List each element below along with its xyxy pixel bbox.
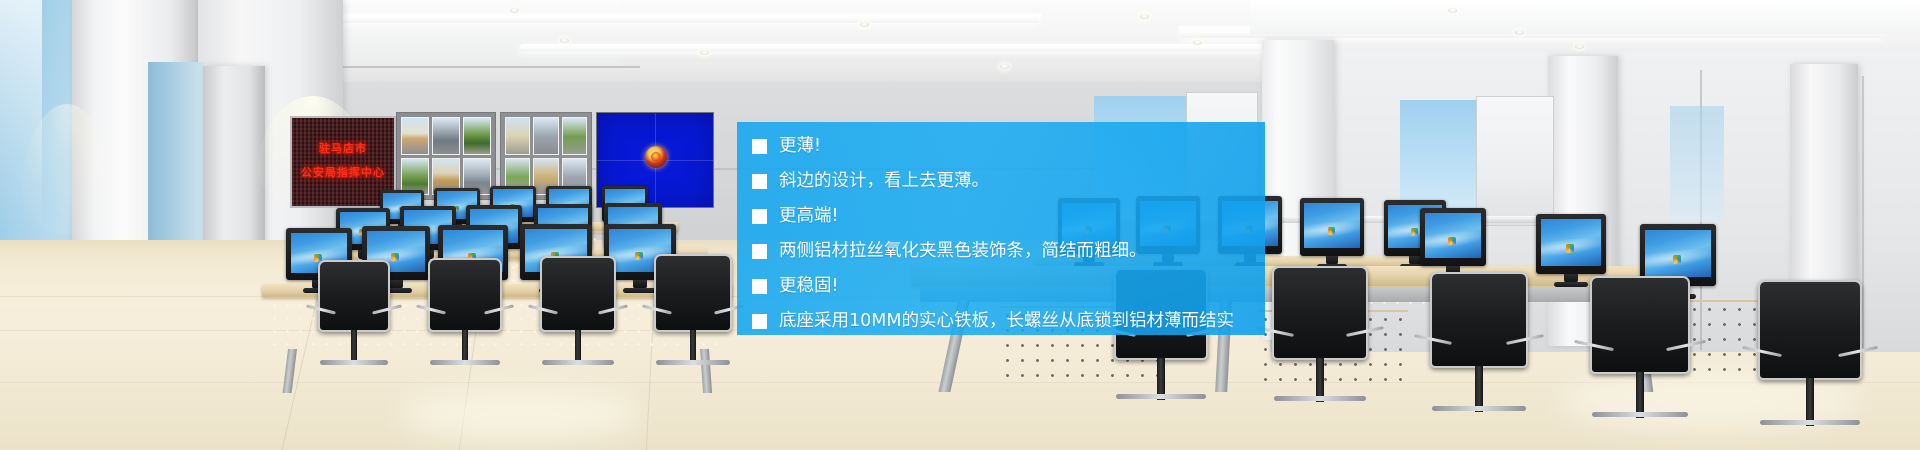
office-chair (1758, 280, 1862, 380)
feature-text: 斜边的设计，看上去更薄。 (779, 170, 989, 192)
chair-post (351, 330, 357, 364)
square-bullet-icon (752, 139, 767, 154)
feature-overlay-panel: 更薄! 斜边的设计，看上去更薄。 更高端! 两侧铝材拉丝氧化夹黑色装饰条，简结而… (737, 122, 1265, 335)
downlight-icon (560, 38, 569, 43)
cctv-feed-building (533, 117, 558, 155)
monitor (1536, 214, 1606, 274)
square-bullet-icon (752, 244, 767, 259)
downlight-icon (1193, 40, 1202, 45)
downlight-icon (1515, 30, 1524, 35)
office-chair (1430, 272, 1528, 368)
feature-row: 斜边的设计，看上去更薄。 (752, 170, 1265, 205)
feature-row: 更稳固! (752, 275, 1265, 310)
police-emblem-icon (645, 146, 667, 168)
feature-row: 两侧铝材拉丝氧化夹黑色装饰条，简结而粗细。 (752, 240, 1265, 275)
chair-base (320, 360, 388, 365)
wall-partition-seam (1862, 76, 1864, 348)
office-chair (540, 256, 616, 332)
office-chair (428, 258, 502, 332)
cctv-video-wall (396, 112, 496, 200)
chair-post (575, 330, 581, 364)
cctv-feed-plaza (505, 117, 530, 155)
square-bullet-icon (752, 279, 767, 294)
feature-text: 更高端! (779, 205, 839, 227)
led-sign-line-2: 公安局指挥中心 (292, 164, 394, 180)
chair-base (656, 360, 730, 365)
chair-base (542, 360, 614, 365)
feature-row: 更薄! (752, 135, 1265, 170)
office-chair (1590, 276, 1690, 374)
feature-text: 底座采用10MM的实心铁板，长螺丝从底锁到铝材薄而结实 (779, 310, 1234, 332)
office-chair (318, 260, 390, 332)
monitor (1300, 198, 1364, 256)
chair-base (1592, 412, 1688, 417)
chair-base (1274, 396, 1366, 401)
feature-text: 更薄! (779, 135, 821, 157)
chair-post (462, 330, 468, 364)
feature-text: 更稳固! (779, 275, 839, 297)
banner-image: 驻马店市 公安局指挥中心 (0, 0, 1920, 450)
feature-row: 更高端! (752, 205, 1265, 240)
window-glass (1670, 106, 1724, 222)
downlight-icon (860, 22, 869, 27)
window-blind (1476, 96, 1554, 226)
ceiling-light-strip-2 (519, 44, 1282, 51)
cctv-feed-plaza (401, 117, 429, 155)
feature-row: 底座采用10MM的实心铁板，长螺丝从底锁到铝材薄而结实 (752, 310, 1265, 345)
office-chair (654, 254, 732, 332)
floor-reflection (400, 390, 640, 440)
cctv-feed-garden (463, 117, 491, 155)
chair-post (690, 330, 696, 364)
downlight-icon (510, 8, 519, 13)
chair-base (1760, 420, 1860, 425)
downlight-icon (1448, 8, 1457, 13)
led-sign-line-1: 驻马店市 (292, 140, 394, 156)
square-bullet-icon (752, 209, 767, 224)
office-chair (1272, 266, 1368, 360)
ceiling-recess-right (1250, 0, 1920, 34)
monitor (1420, 208, 1486, 266)
chair-base (1116, 394, 1206, 399)
feature-text: 两侧铝材拉丝氧化夹黑色装饰条，简结而粗细。 (779, 240, 1147, 262)
chair-post (1806, 378, 1814, 426)
downlight-icon (700, 50, 709, 55)
square-bullet-icon (752, 174, 767, 189)
downlight-icon (1000, 64, 1009, 69)
cctv-feed-building (432, 117, 460, 155)
downlight-icon (1575, 44, 1584, 49)
ceiling-light-strip-1 (298, 14, 1042, 23)
chair-base (1432, 406, 1526, 411)
cctv-feed-garden (562, 117, 587, 155)
square-bullet-icon (752, 314, 767, 329)
chair-base (430, 360, 500, 365)
downlight-icon (1140, 14, 1149, 19)
